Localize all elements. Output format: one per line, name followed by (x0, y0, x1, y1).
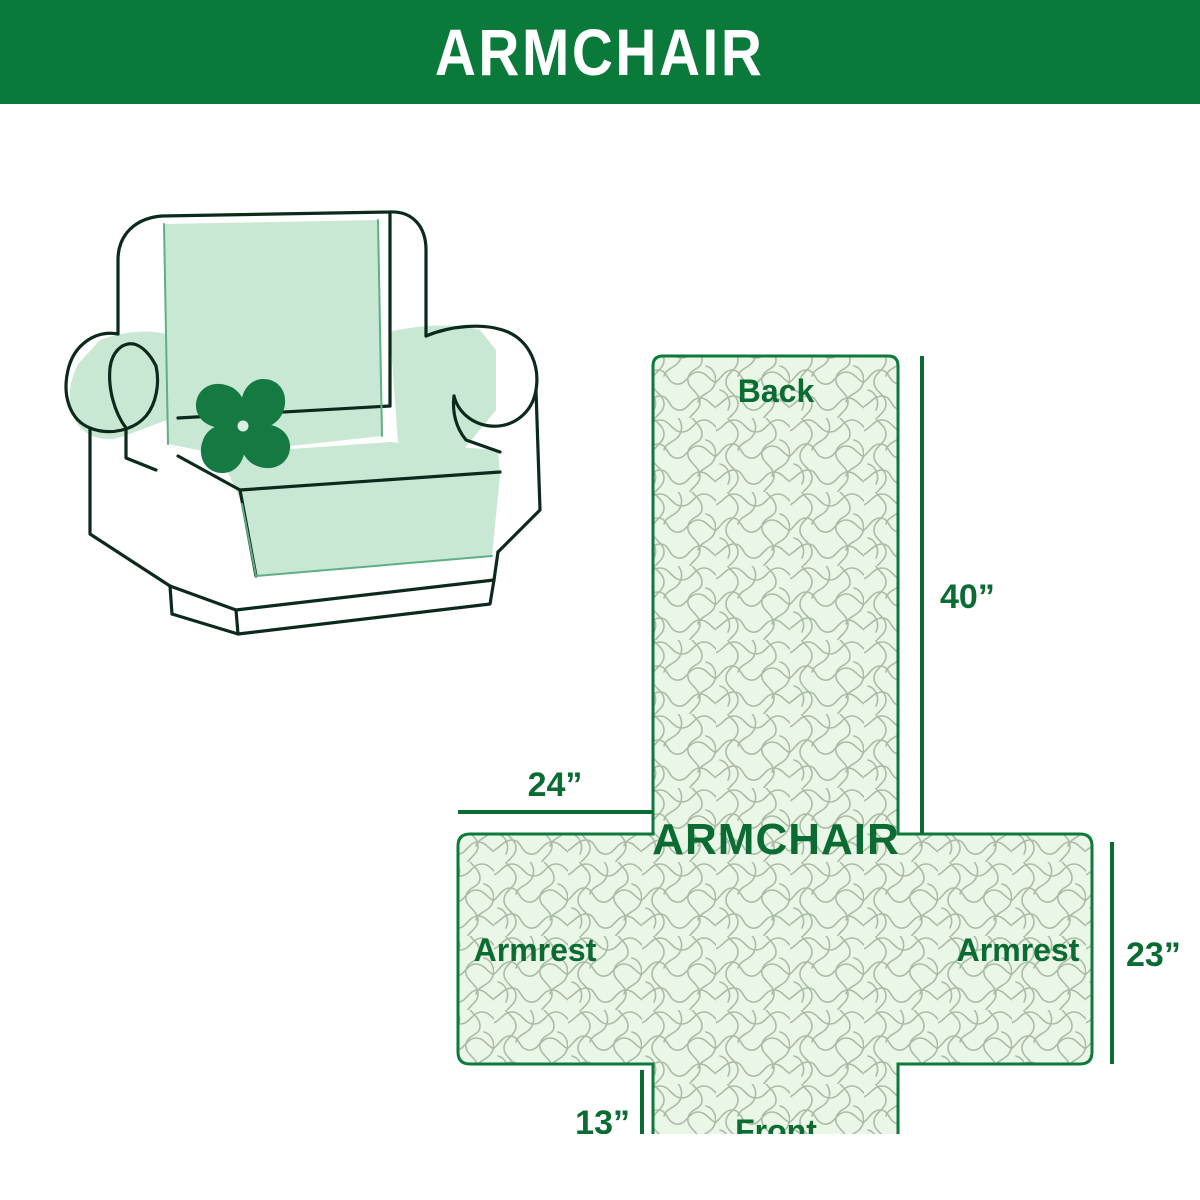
pinwheel-hub (238, 421, 249, 432)
panel-label-center: ARMCHAIR (652, 815, 900, 864)
dimension-value-23: 23” (1126, 936, 1181, 974)
panel-label-armrest-left: Armrest (474, 932, 597, 968)
slipcover-pattern-diagram: Back ARMCHAIR Armrest Armrest Front 40” … (420, 344, 1200, 1134)
dimension-value-24-top: 24” (528, 766, 583, 804)
diagram-stage: Back ARMCHAIR Armrest Armrest Front 40” … (0, 104, 1200, 1200)
pattern-cross-shape (458, 356, 1092, 1134)
header-banner: ARMCHAIR (0, 0, 1200, 104)
dimension-value-13: 13” (575, 1104, 630, 1134)
page-title: ARMCHAIR (435, 19, 765, 85)
panel-label-armrest-right: Armrest (957, 932, 1080, 968)
dimension-front-height: 13” (575, 1070, 642, 1134)
dimension-back-height: 40” (922, 356, 995, 834)
dimension-value-40: 40” (940, 578, 995, 616)
panel-label-front: Front (735, 1113, 817, 1134)
panel-label-back: Back (738, 373, 815, 409)
dimension-armrest-depth: 23” (1112, 842, 1181, 1064)
dimension-back-width: 24” (458, 766, 653, 812)
